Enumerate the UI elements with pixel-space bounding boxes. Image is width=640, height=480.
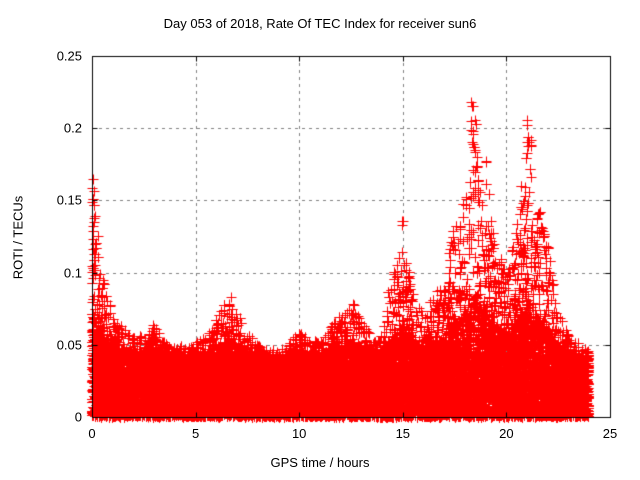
y-axis-label: ROTI / TECUs xyxy=(11,138,26,338)
x-tick-label: 5 xyxy=(192,426,199,441)
x-tick-label: 20 xyxy=(499,426,513,441)
roti-scatter-chart: Day 053 of 2018, Rate Of TEC Index for r… xyxy=(0,0,640,480)
y-tick-label: 0 xyxy=(2,410,82,425)
x-tick-label: 15 xyxy=(396,426,410,441)
y-tick-label: 0.15 xyxy=(2,193,82,208)
x-tick-label: 25 xyxy=(603,426,617,441)
x-axis-label: GPS time / hours xyxy=(0,455,640,470)
y-tick-label: 0.25 xyxy=(2,49,82,64)
y-tick-label: 0.2 xyxy=(2,121,82,136)
plot-canvas xyxy=(0,0,640,480)
x-tick-label: 0 xyxy=(88,426,95,441)
y-tick-label: 0.05 xyxy=(2,337,82,352)
x-tick-label: 10 xyxy=(292,426,306,441)
y-tick-label: 0.1 xyxy=(2,265,82,280)
